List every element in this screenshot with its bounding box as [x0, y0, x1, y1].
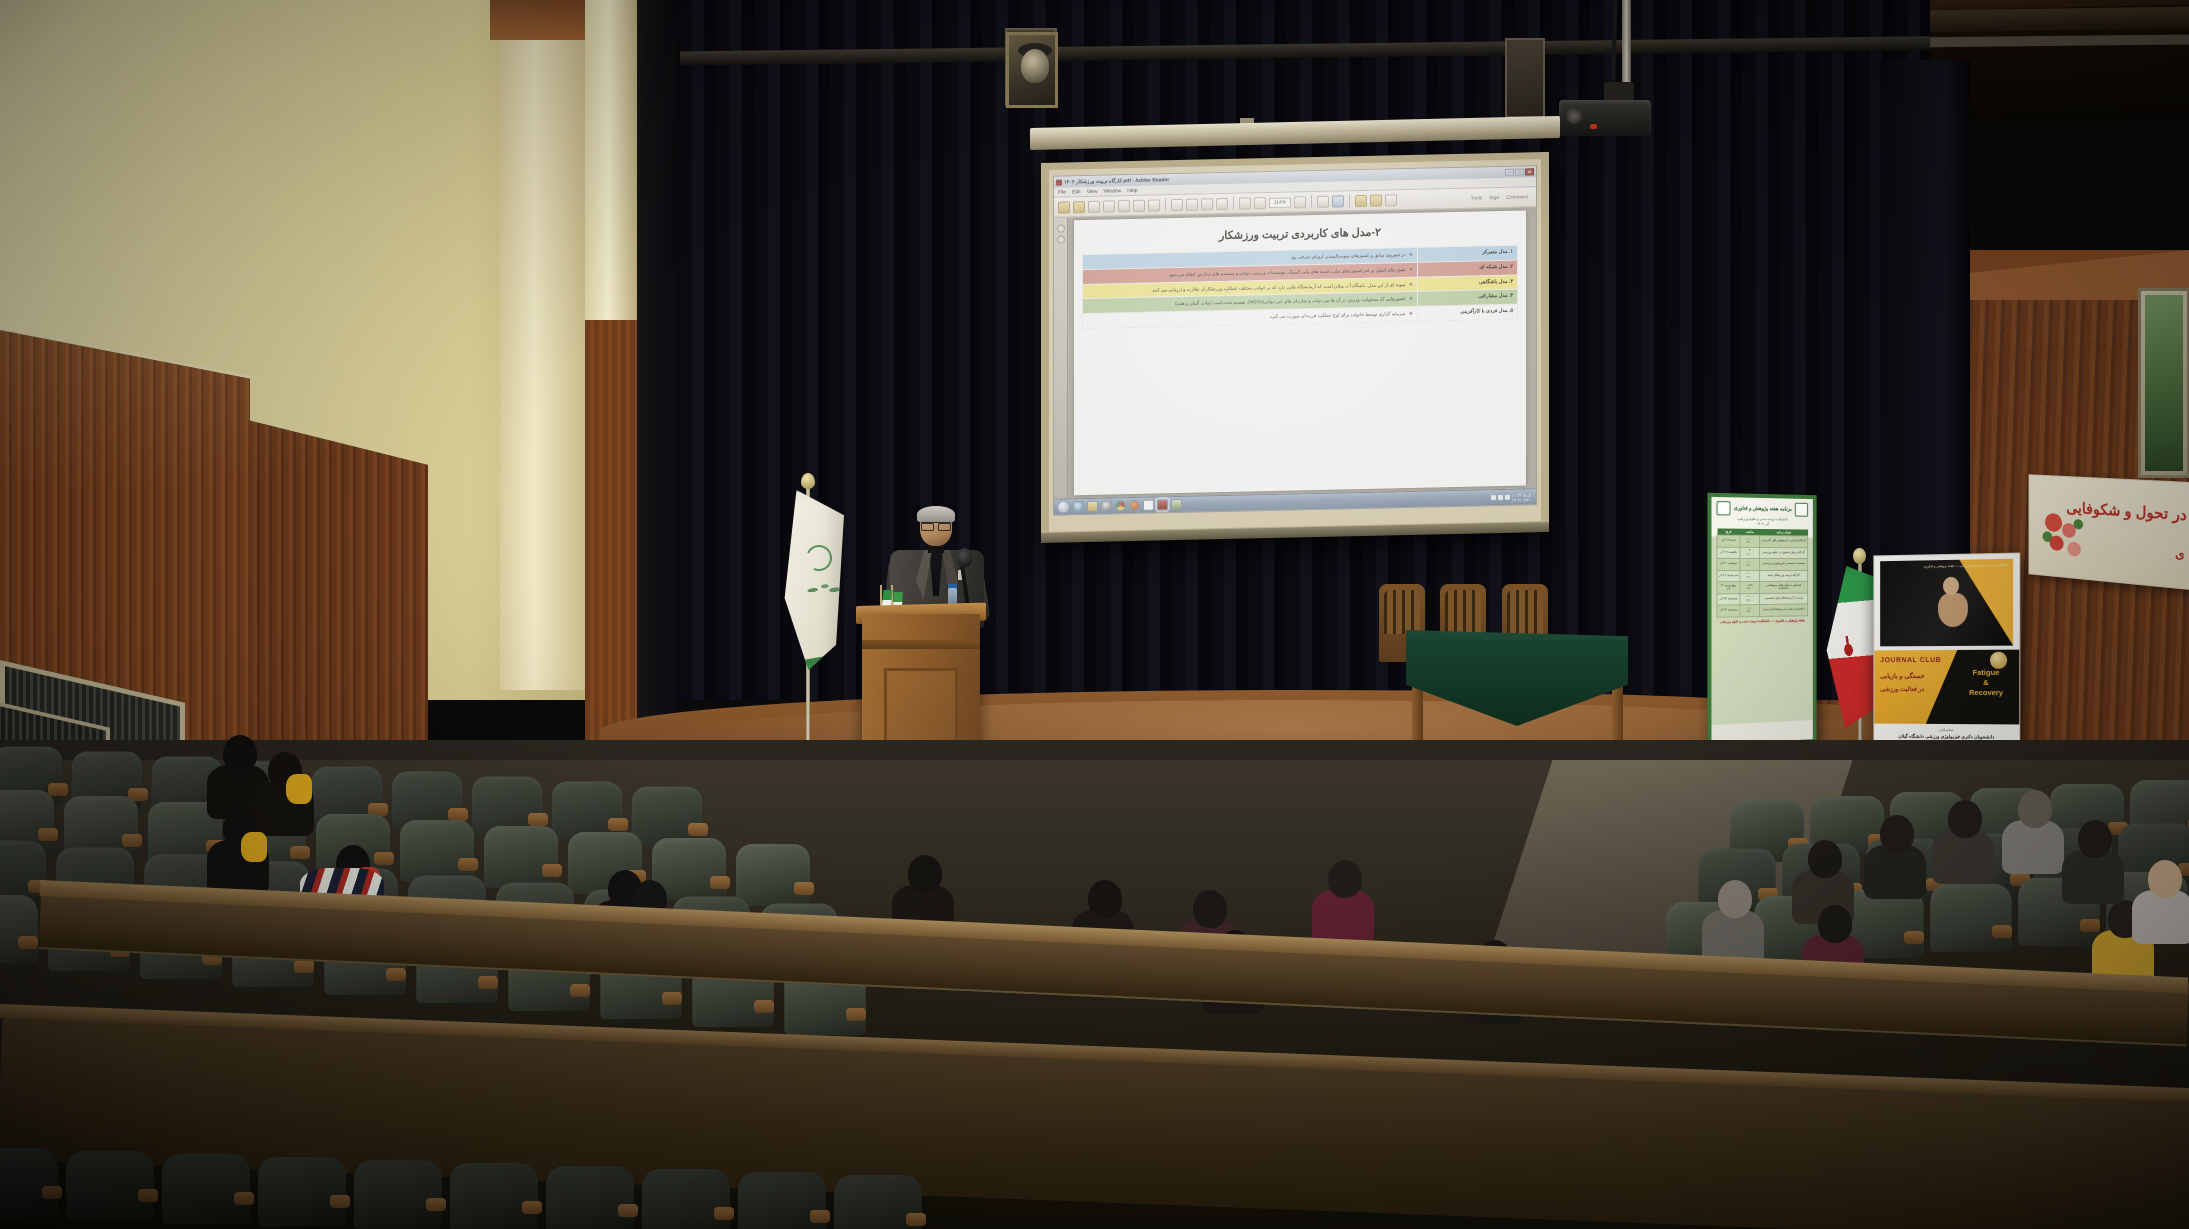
bullet-icon: ❖ — [1409, 281, 1413, 286]
audience-seat — [736, 844, 810, 906]
select-tool-icon[interactable] — [1133, 199, 1145, 211]
seat-armrest — [458, 858, 478, 871]
front-row-seat — [546, 1166, 634, 1229]
pdf-page: ۲-مدل های کاربردی تربیت ورزشکار ۱. مدل م… — [1074, 210, 1526, 495]
wall-speaker-box-right — [1505, 38, 1545, 118]
table-row: همایش دستاوردهای پژوهشی دانشکده ۰۸:۳۰ - … — [1717, 581, 1808, 593]
model-description-text: نقش های اصلی بر فدراسیون های ملی، کمیته … — [1169, 267, 1406, 277]
university-logo-icon — [1717, 501, 1731, 515]
save-icon[interactable] — [1088, 200, 1100, 212]
audience-member — [205, 810, 275, 890]
audience-member-body — [2002, 820, 2064, 874]
audience-seat — [1930, 884, 2011, 952]
bullet-icon: ❖ — [1409, 267, 1413, 272]
audience-member-head — [1193, 890, 1227, 928]
audience-member — [1930, 800, 2000, 880]
table-row: اختتامیه و تقدیر از پژوهشگران برتر ۱۱:۰۰… — [1717, 604, 1808, 617]
framed-portrait — [1006, 32, 1058, 108]
model-description-text: نمونه ای از این مدل، باشگاه آث میلان است… — [1151, 282, 1406, 293]
audience-member-head — [2148, 860, 2182, 898]
schedule-date: پنجشنبه ۲۳ آذر — [1717, 593, 1740, 605]
start-orb-icon[interactable] — [1057, 500, 1070, 513]
system-tray: ۱۰:۴۲ ق.ظ ۱۴۰۲/۰۹/۲۱ — [1491, 492, 1533, 503]
front-row-seat — [0, 1148, 58, 1218]
schedule-title: اختتامیه و تقدیر از پژوهشگران برتر — [1760, 604, 1808, 616]
seat-armrest — [330, 1195, 350, 1208]
schedule-poster-title: برنامه هفته پژوهش و فناوری — [1732, 505, 1792, 513]
schedule-date: دوشنبه ۲۰ آذر — [1717, 558, 1740, 570]
left-wall-wainscot-lower — [248, 420, 428, 795]
schedule-title: بازدید از آزمایشگاه های تخصصی — [1760, 593, 1808, 605]
schedule-title: نشست تخصصی فیزیولوژی ورزشی — [1760, 558, 1808, 570]
projection-screen: کارگاه تربیت ورزشکار ۱۴۰۲.pdf - Adobe Re… — [1041, 152, 1549, 541]
taskbar-clock[interactable]: ۱۰:۴۲ ق.ظ ۱۴۰۲/۰۹/۲۱ — [1512, 492, 1531, 502]
pdf-document-area: ۲-مدل های کاربردی تربیت ورزشکار ۱. مدل م… — [1054, 207, 1536, 499]
front-row-seat — [66, 1151, 154, 1221]
first-page-icon[interactable] — [1171, 198, 1183, 210]
schedule-time: ۰۹:۰۰ - ۱۱:۰۰ — [1740, 547, 1760, 559]
audience-member-head — [2018, 790, 2052, 828]
seat-armrest — [42, 1186, 62, 1199]
media-player-icon[interactable] — [1101, 500, 1112, 511]
model-description-text: سرمایه گذاری توسط خانواده برای اوج عملکر… — [1269, 311, 1406, 319]
auditorium-scene: کارگاه تربیت ورزشکار ۱۴۰۲.pdf - Adobe Re… — [0, 0, 2189, 1229]
toolbar-divider-2 — [1233, 197, 1234, 210]
language-icon[interactable] — [1505, 495, 1510, 500]
podium-band — [862, 640, 980, 649]
seat-armrest — [794, 882, 814, 895]
google-chrome-icon[interactable] — [1115, 500, 1126, 511]
schedule-time: ۱۱:۰۰ - ۱۳:۰۰ — [1740, 605, 1760, 617]
zoom-in-icon[interactable] — [1254, 197, 1266, 209]
wall-banner-text-secondary: ی — [2175, 546, 2185, 561]
seat-armrest — [48, 783, 68, 796]
read-mode-icon[interactable] — [1385, 194, 1397, 206]
portrait-face — [1021, 49, 1049, 83]
highlight-icon[interactable] — [1355, 194, 1367, 206]
schedule-poster-header: برنامه هفته پژوهش و فناوری — [1717, 501, 1809, 517]
menu-edit[interactable]: Edit — [1072, 189, 1081, 195]
wall-framed-picture — [2138, 288, 2189, 478]
audience-seat — [0, 895, 38, 963]
audience-member-body — [1312, 890, 1374, 944]
fit-width-icon[interactable] — [1317, 195, 1329, 207]
zoom-dropdown-icon[interactable] — [1294, 196, 1306, 208]
schedule-time: ۱۰:۰۰ - ۱۲:۰۰ — [1740, 593, 1760, 605]
schedule-table: عنوان برنامه ساعت تاریخ کارگاه آشنایی با… — [1717, 528, 1809, 617]
audience-member-head — [1328, 860, 1362, 898]
front-row-seat — [258, 1157, 346, 1227]
iran-flag-emblem-icon — [1837, 635, 1860, 658]
audience-member — [2130, 860, 2189, 940]
seat-armrest — [386, 968, 406, 981]
microphone-icon — [957, 548, 972, 567]
adobe-reader-taskbar-icon[interactable] — [1157, 499, 1168, 510]
bookmarks-icon[interactable] — [1057, 235, 1065, 243]
schedule-date: یکشنبه ۱۹ آذر — [1717, 547, 1740, 559]
file-explorer-icon[interactable] — [1087, 501, 1098, 512]
projector-power-led-icon — [1590, 124, 1597, 129]
model-description-text: کشورهایی که مسئولیت ورزش در آن ها بین دو… — [1175, 296, 1405, 306]
faculty-logo-icon — [1795, 503, 1808, 517]
table-row: نشست تخصصی فیزیولوژی ورزشی ۱۰:۰۰ - ۱۲:۰۰… — [1717, 558, 1808, 570]
seat-armrest — [846, 1008, 866, 1021]
seat-armrest — [662, 992, 682, 1005]
audience-member-scarf — [241, 832, 267, 862]
table-row: کارگاه روش تحقیق در علوم ورزشی ۰۹:۰۰ - ۱… — [1717, 547, 1808, 559]
journal-club-label: JOURNAL CLUB — [1880, 657, 1941, 664]
proscenium-pillar-left — [500, 0, 585, 690]
next-page-icon[interactable] — [1201, 198, 1213, 210]
clock-date: ۱۴۰۲/۰۹/۲۱ — [1512, 497, 1531, 502]
sign-pane-button[interactable]: Sign — [1489, 194, 1499, 200]
framed-picture-image — [2145, 295, 2183, 471]
bullet-icon: ❖ — [1409, 296, 1413, 301]
folder-icon[interactable] — [1171, 499, 1182, 510]
sticky-note-icon[interactable] — [1370, 194, 1382, 206]
pdf-navigation-sidebar[interactable] — [1054, 217, 1068, 498]
schedule-date: سه شنبه ۲۱ آذر — [1717, 570, 1740, 582]
zoom-level-field[interactable]: 114% — [1269, 197, 1291, 207]
email-icon[interactable] — [1103, 200, 1115, 212]
network-icon[interactable] — [1491, 495, 1496, 500]
presenters-label: سخنرانان: — [1880, 728, 2013, 733]
seat-armrest — [714, 1207, 734, 1220]
seat-armrest — [122, 834, 142, 847]
front-row-seat — [642, 1169, 730, 1229]
open-file-icon[interactable] — [1058, 201, 1070, 213]
audience-member — [2060, 820, 2130, 900]
title-en-ampersand: & — [1983, 678, 1988, 687]
volume-icon[interactable] — [1498, 495, 1503, 500]
slide-models-table: ۱. مدل متمرکز ❖ در شوروی سابق و کشورهای … — [1082, 245, 1518, 329]
seat-armrest — [542, 864, 562, 877]
seat-armrest — [528, 813, 548, 826]
seat-armrest — [426, 1198, 446, 1211]
title-en-recovery: Recovery — [1969, 688, 2003, 697]
page-thumbnails-icon[interactable] — [1057, 224, 1065, 232]
front-row-seat — [162, 1154, 250, 1224]
schedule-time: ۰۸:۳۰ - ۱۲:۰۰ — [1740, 582, 1760, 594]
snapshot-icon[interactable] — [1148, 199, 1160, 211]
schedule-title: کارگاه تربیت ورزشکار نخبه — [1760, 570, 1808, 582]
previous-page-icon[interactable] — [1186, 198, 1198, 210]
menu-help[interactable]: Help — [1127, 187, 1137, 193]
seat-armrest — [710, 876, 730, 889]
close-button[interactable]: ✕ — [1525, 168, 1534, 175]
schedule-poster: برنامه هفته پژوهش و فناوری دانشکده تربیت… — [1707, 493, 1816, 750]
whiteboard-icon[interactable] — [1143, 500, 1154, 511]
seat-armrest — [688, 823, 708, 836]
seat-armrest — [478, 976, 498, 989]
audience-member-head — [1088, 880, 1122, 918]
maximize-button[interactable]: □ — [1515, 168, 1524, 175]
internet-explorer-icon[interactable] — [1073, 501, 1084, 512]
seat-armrest — [754, 1000, 774, 1013]
create-pdf-icon[interactable] — [1073, 201, 1085, 213]
title-en-fatigue: Fatigue — [1973, 668, 2000, 677]
audience-member-head — [1948, 800, 1982, 838]
fit-page-icon[interactable] — [1332, 195, 1344, 207]
schedule-title: کارگاه روش تحقیق در علوم ورزشی — [1760, 547, 1808, 559]
journal-club-seal-icon — [1990, 652, 2007, 669]
seat-armrest — [810, 1210, 830, 1223]
pdf-reader-window[interactable]: کارگاه تربیت ورزشکار ۱۴۰۲.pdf - Adobe Re… — [1053, 165, 1537, 516]
flagpole-finial-icon — [801, 473, 815, 489]
firefox-icon[interactable] — [1129, 500, 1140, 511]
toolbar-divider-4 — [1349, 194, 1350, 207]
audience-member-scarf — [286, 774, 312, 804]
audience-member-body — [1932, 830, 1994, 884]
audience-member-head — [1818, 905, 1852, 943]
photo-athlete-body — [1938, 592, 1968, 626]
seat-armrest — [234, 1192, 254, 1205]
schedule-title: همایش دستاوردهای پژوهشی دانشکده — [1760, 581, 1808, 593]
schedule-title: کارگاه آشنایی با پژوهش های کاربردی — [1760, 535, 1808, 547]
audience-member-body — [1864, 845, 1926, 899]
menu-window[interactable]: Window — [1103, 188, 1121, 194]
audience-member-head — [1880, 815, 1914, 853]
seat-armrest — [570, 984, 590, 997]
seat-armrest — [906, 1213, 926, 1226]
audience-member-head — [908, 855, 942, 893]
last-page-icon[interactable] — [1216, 197, 1228, 209]
bullet-icon: ❖ — [1409, 252, 1413, 257]
front-row-seat — [354, 1160, 442, 1229]
minimize-button[interactable]: – — [1505, 169, 1514, 176]
tools-pane-button[interactable]: Tools — [1471, 195, 1483, 201]
audience-member-body — [2062, 850, 2124, 904]
table-row: کارگاه آشنایی با پژوهش های کاربردی ۱۰:۰۰… — [1717, 535, 1808, 547]
comment-pane-button[interactable]: Comment — [1506, 194, 1528, 200]
journal-club-title-en: Fatigue & Recovery — [1958, 668, 2014, 699]
audience-member — [1700, 880, 1770, 960]
front-row-seat — [450, 1163, 538, 1229]
menu-file[interactable]: File — [1058, 189, 1066, 195]
audience-member — [1862, 815, 1932, 895]
menu-view[interactable]: View — [1087, 188, 1098, 194]
schedule-poster-date: آذر ۱۴۰۲ — [1717, 521, 1809, 526]
model-description-text: در شوروی سابق و کشورهای سوسیالیستی اروپا… — [1291, 252, 1406, 260]
schedule-time: ۱۰:۰۰ - ۱۲:۰۰ — [1740, 535, 1760, 547]
audience-seat — [632, 787, 702, 846]
seat-armrest — [290, 846, 310, 859]
projector-lens-icon — [1566, 108, 1582, 124]
wall-banner: در تحول و شکوفایی ی — [2028, 474, 2189, 590]
toolbar-divider-3 — [1311, 195, 1312, 208]
schedule-poster-footer: هفته پژوهش و فناوری — دانشکده تربیت بدنی… — [1717, 618, 1809, 624]
journal-club-title-band: JOURNAL CLUB خستگی و بازیابی در فعالیت و… — [1874, 650, 2019, 725]
presenter-hair — [917, 506, 955, 523]
audience-member — [1310, 860, 1380, 940]
seat-armrest — [138, 1189, 158, 1202]
schedule-date: شنبه ۱۸ آذر — [1717, 535, 1740, 547]
projection-surface: کارگاه تربیت ورزشکار ۱۴۰۲.pdf - Adobe Re… — [1049, 159, 1541, 532]
glasses-icon — [921, 522, 951, 528]
schedule-time: ۱۰:۰۰ - ۱۲:۰۰ — [1740, 570, 1760, 582]
journal-club-photo: دانشگاه تربیت بدنی و علوم ورزشی — هفته پ… — [1880, 559, 2013, 647]
schedule-date: چهارشنبه ۲۲ آذر — [1717, 582, 1740, 594]
adobe-reader-icon — [1056, 179, 1062, 185]
audience-seat — [400, 820, 474, 882]
seat-armrest — [1992, 925, 2012, 938]
audience-member-head — [2078, 820, 2112, 858]
seat-armrest — [294, 960, 314, 973]
audience-seat — [484, 826, 558, 888]
bullet-icon: ❖ — [1409, 311, 1413, 316]
seat-armrest — [522, 1201, 542, 1214]
pdf-window-title: کارگاه تربیت ورزشکار ۱۴۰۲.pdf - Adobe Re… — [1064, 177, 1169, 185]
seat-armrest — [618, 1204, 638, 1217]
audience-member-head — [1718, 880, 1752, 918]
journal-club-title-fa-1: خستگی و بازیابی — [1880, 672, 1925, 680]
seat-armrest — [608, 818, 628, 831]
seat-armrest — [1904, 931, 1924, 944]
seat-armrest — [18, 936, 38, 949]
audience-member-body — [2132, 890, 2189, 944]
zoom-out-icon[interactable] — [1239, 197, 1251, 209]
iran-flagpole-finial-icon — [1853, 548, 1866, 564]
audience-member-head — [1808, 840, 1842, 878]
schedule-date: پنجشنبه ۲۳ آذر — [1717, 605, 1740, 617]
journal-club-title-fa-2: در فعالیت ورزشی — [1880, 686, 1924, 693]
table-row: کارگاه تربیت ورزشکار نخبه ۱۰:۰۰ - ۱۲:۰۰ … — [1717, 570, 1808, 582]
model-label: ۵. مدل فردی با کارآفرینی — [1417, 304, 1517, 321]
seat-armrest — [38, 828, 58, 841]
schedule-time: ۱۰:۰۰ - ۱۲:۰۰ — [1740, 558, 1760, 570]
toolbar-divider — [1165, 198, 1166, 211]
print-icon[interactable] — [1118, 200, 1130, 212]
